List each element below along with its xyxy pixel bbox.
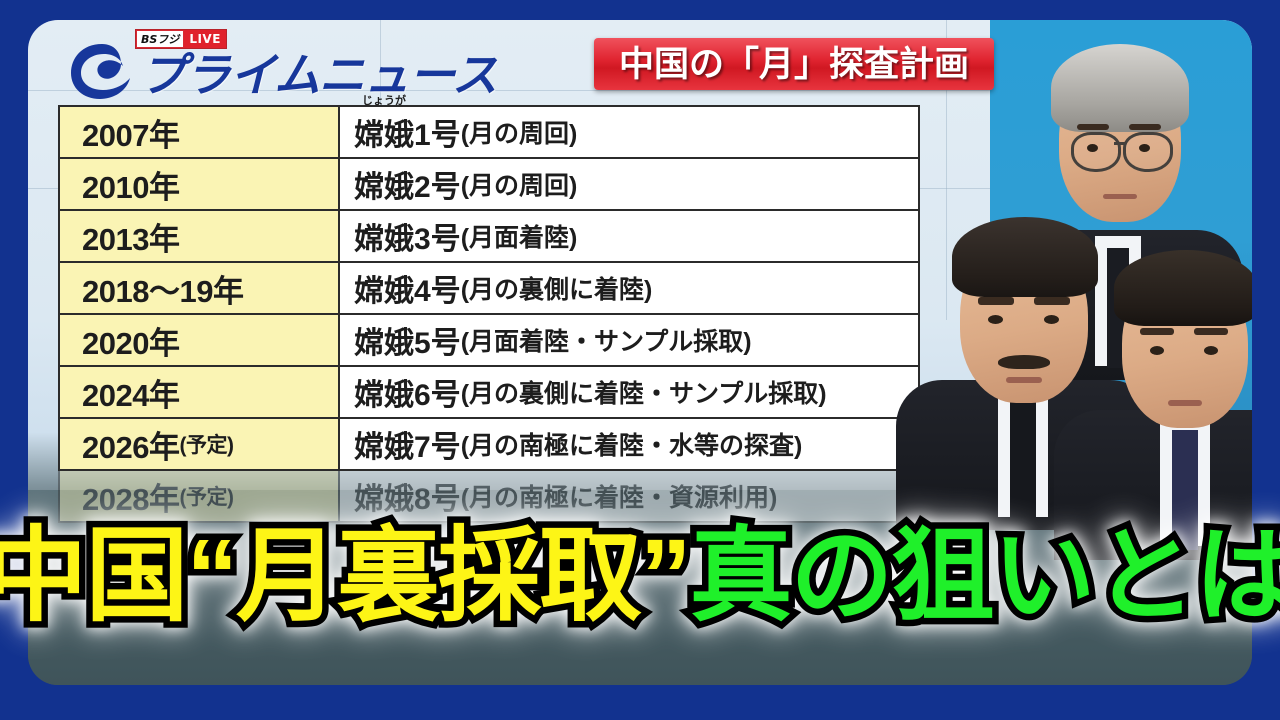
topic-title-text: 中国の「月」探査計画 <box>619 47 969 82</box>
mission-detail: (月の南極に着陸・資源利用) <box>461 478 778 514</box>
year-note: (予定) <box>179 429 233 459</box>
swirl-e-icon <box>68 40 136 102</box>
table-row: 2028年(予定)嫦娥8号(月の南極に着陸・資源利用) <box>58 471 920 523</box>
mission-detail: (月の裏側に着陸) <box>461 270 653 306</box>
program-logo: プライムニュース <box>68 30 497 102</box>
year-value: 2020年 <box>82 318 179 363</box>
mission-name: 嫦娥7号 <box>354 422 461 466</box>
year-value: 2028年 <box>82 474 179 519</box>
mission-name: 嫦娥8号 <box>354 474 461 518</box>
table-cell-mission: 嫦娥6号(月の裏側に着陸・サンプル採取) <box>340 367 920 417</box>
table-row: 2013年嫦娥3号(月面着陸) <box>58 211 920 263</box>
table-cell-mission: 嫦娥5号(月面着陸・サンプル採取) <box>340 315 920 365</box>
year-value: 2024年 <box>82 370 179 415</box>
table-row: 2018〜19年嫦娥4号(月の裏側に着陸) <box>58 263 920 315</box>
table-cell-mission: 嫦娥4号(月の裏側に着陸) <box>340 263 920 313</box>
table-cell-mission: 嫦娥2号(月の周回) <box>340 159 920 209</box>
table-cell-mission: 嫦娥じょうが1号(月の周回) <box>340 107 920 157</box>
ruby-container: 嫦娥じょうが <box>354 110 414 154</box>
table-cell-year: 2007年 <box>58 107 340 157</box>
year-value: 2007年 <box>82 110 179 155</box>
mission-detail: (月面着陸・サンプル採取) <box>461 322 752 358</box>
table-cell-year: 2026年(予定) <box>58 419 340 469</box>
table-row: 2007年嫦娥じょうが1号(月の周回) <box>58 107 920 159</box>
live-badge: BSフジ LIVE <box>136 30 226 48</box>
year-value: 2010年 <box>82 162 179 207</box>
network-label: BSフジ <box>136 30 184 48</box>
table-cell-mission: 嫦娥8号(月の南極に着陸・資源利用) <box>340 471 920 521</box>
table-cell-year: 2010年 <box>58 159 340 209</box>
year-note: (予定) <box>179 481 233 511</box>
table-cell-mission: 嫦娥3号(月面着陸) <box>340 211 920 261</box>
mission-detail: (月の南極に着陸・水等の探査) <box>461 426 803 462</box>
ruby-base: 嫦娥 <box>354 119 414 152</box>
table-row: 2026年(予定)嫦娥7号(月の南極に着陸・水等の探査) <box>58 419 920 471</box>
mission-name: 嫦娥じょうが1号 <box>354 110 461 154</box>
mission-detail: (月の裏側に着陸・サンプル採取) <box>461 374 827 410</box>
topic-title-banner: 中国の「月」探査計画 <box>594 38 994 90</box>
table-row: 2024年嫦娥6号(月の裏側に着陸・サンプル採取) <box>58 367 920 419</box>
table-row: 2010年嫦娥2号(月の周回) <box>58 159 920 211</box>
year-value: 2026年 <box>82 422 179 467</box>
year-value: 2013年 <box>82 214 179 259</box>
broadcast-screenshot: プライムニュース BSフジ LIVE 中国の「月」探査計画 2007年嫦娥じょう… <box>0 0 1280 720</box>
table-cell-year: 2020年 <box>58 315 340 365</box>
mission-detail: (月面着陸) <box>461 218 578 254</box>
mission-name: 嫦娥2号 <box>354 162 461 206</box>
program-logo-text: プライムニュース <box>140 52 497 98</box>
table-cell-mission: 嫦娥7号(月の南極に着陸・水等の探査) <box>340 419 920 469</box>
live-label: LIVE <box>184 30 226 48</box>
mission-name: 嫦娥5号 <box>354 318 461 362</box>
mission-name: 嫦娥6号 <box>354 370 461 414</box>
table-cell-year: 2024年 <box>58 367 340 417</box>
mission-detail: (月の周回) <box>461 114 578 150</box>
year-value: 2018〜19年 <box>82 266 243 311</box>
studio-backdrop <box>990 20 1252 450</box>
table-row: 2020年嫦娥5号(月面着陸・サンプル採取) <box>58 315 920 367</box>
mission-detail: (月の周回) <box>461 166 578 202</box>
table-cell-year: 2028年(予定) <box>58 471 340 521</box>
table-cell-year: 2013年 <box>58 211 340 261</box>
lunar-mission-table: 2007年嫦娥じょうが1号(月の周回)2010年嫦娥2号(月の周回)2013年嫦… <box>58 105 920 523</box>
table-cell-year: 2018〜19年 <box>58 263 340 313</box>
mission-name: 嫦娥3号 <box>354 214 461 258</box>
mission-name: 嫦娥4号 <box>354 266 461 310</box>
